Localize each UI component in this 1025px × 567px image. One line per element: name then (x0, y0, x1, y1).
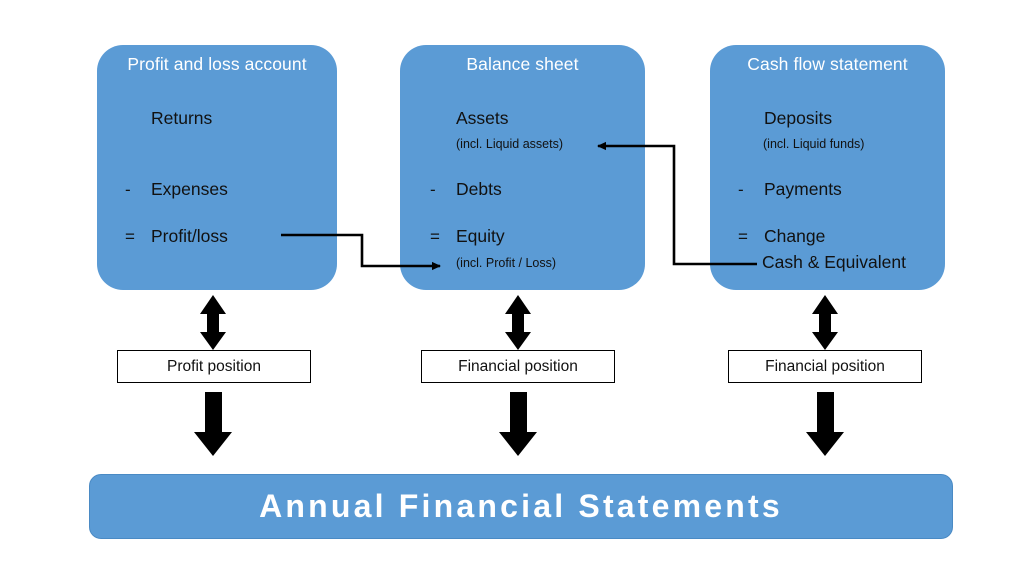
operator-symbol: - (430, 179, 456, 200)
vertical-arrow-card-to-position-1 (200, 295, 226, 350)
card-row-cash-equivalent: Cash & Equivalent (762, 252, 906, 273)
card-title-profit-and-loss-account: Profit and loss account (97, 54, 337, 74)
card-title-balance-sheet: Balance sheet (400, 54, 645, 74)
row-label: Expenses (151, 179, 228, 200)
position-box-financial-position-2[interactable]: Financial position (728, 350, 922, 383)
card-row-deposits-note: (incl. Liquid funds) (763, 137, 864, 152)
operator-symbol: - (125, 179, 151, 200)
operator-symbol: = (125, 226, 151, 247)
row-label: Profit/loss (151, 226, 228, 247)
card-row-returns: Returns (125, 108, 212, 129)
operator-symbol: - (738, 179, 764, 200)
row-label: Change (764, 226, 825, 247)
row-label: Returns (151, 108, 212, 129)
card-title-cash-flow-statement: Cash flow statement (710, 54, 945, 74)
card-row-payments: - Payments (738, 179, 842, 200)
vertical-arrow-card-to-position-3 (812, 295, 838, 350)
card-row-profit-loss: = Profit/loss (125, 226, 228, 247)
row-label: Debts (456, 179, 502, 200)
banner-title: Annual Financial Statements (259, 488, 783, 525)
position-box-label: Profit position (167, 358, 261, 376)
row-label: Equity (456, 226, 505, 247)
vertical-arrow-card-to-position-2 (505, 295, 531, 350)
vertical-arrow-position-to-banner-2 (499, 392, 537, 456)
operator-symbol: = (738, 226, 764, 247)
card-balance-sheet[interactable]: Balance sheet Assets (incl. Liquid asset… (400, 45, 645, 290)
card-row-expenses: - Expenses (125, 179, 228, 200)
card-row-debts: - Debts (430, 179, 502, 200)
card-cash-flow-statement[interactable]: Cash flow statement Deposits (incl. Liqu… (710, 45, 945, 290)
banner-annual-financial-statements[interactable]: Annual Financial Statements (89, 474, 953, 539)
card-row-deposits: Deposits (738, 108, 832, 129)
card-row-change: = Change (738, 226, 825, 247)
position-box-label: Financial position (765, 358, 885, 376)
vertical-arrow-position-to-banner-1 (194, 392, 232, 456)
row-label: Payments (764, 179, 842, 200)
row-label: Assets (456, 108, 509, 129)
card-row-assets: Assets (430, 108, 509, 129)
position-box-financial-position-1[interactable]: Financial position (421, 350, 615, 383)
card-row-equity-note: (incl. Profit / Loss) (456, 256, 556, 271)
card-row-equity: = Equity (430, 226, 505, 247)
position-box-profit-position[interactable]: Profit position (117, 350, 311, 383)
diagram-canvas: Profit and loss account Returns - Expens… (0, 0, 1025, 567)
card-profit-and-loss-account[interactable]: Profit and loss account Returns - Expens… (97, 45, 337, 290)
position-box-label: Financial position (458, 358, 578, 376)
row-label: Deposits (764, 108, 832, 129)
operator-symbol: = (430, 226, 456, 247)
card-row-assets-note: (incl. Liquid assets) (456, 137, 563, 152)
vertical-arrow-position-to-banner-3 (806, 392, 844, 456)
